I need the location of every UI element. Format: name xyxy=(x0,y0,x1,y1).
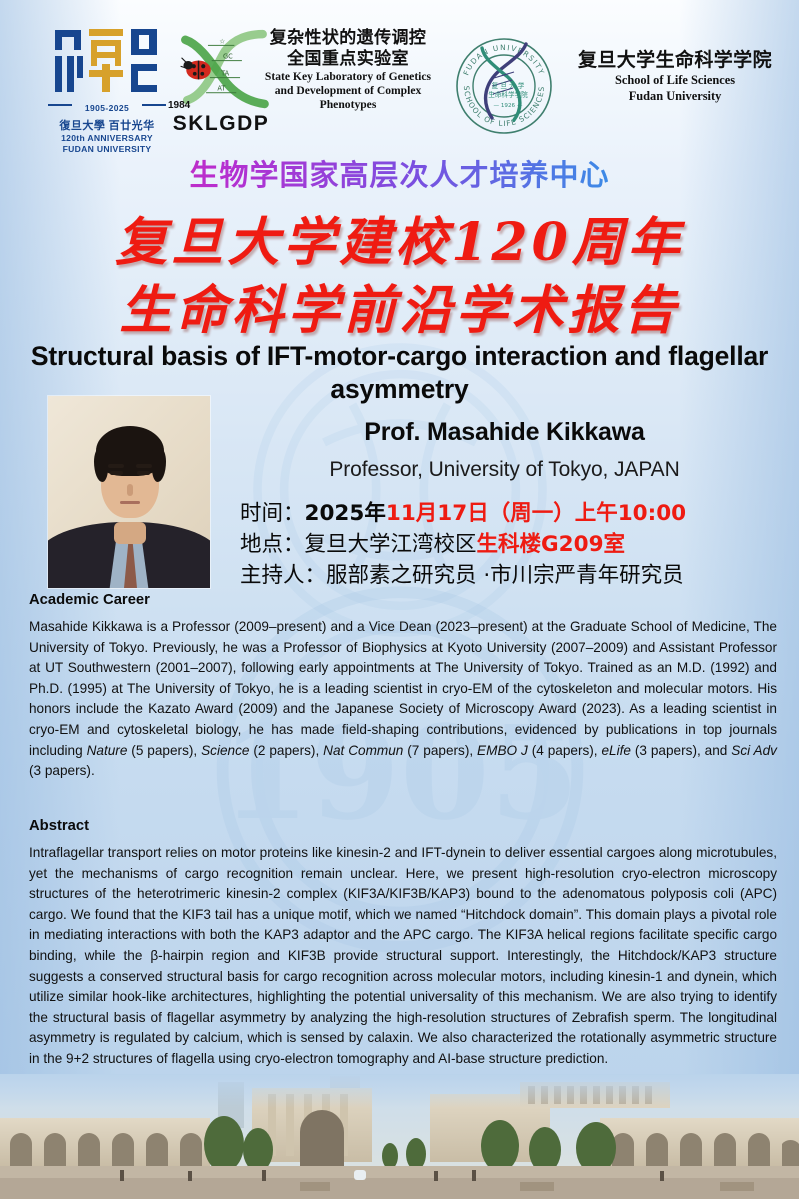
sklgdp-cn-line1: 复杂性状的遗传调控 xyxy=(250,28,446,49)
svg-text:AT: AT xyxy=(217,85,226,93)
event-venue-campus: 复旦大学江湾校区 xyxy=(305,532,477,557)
poster-header: 1905-2025 復旦大學 百廿光华 120th ANNIVERSARY FU… xyxy=(0,22,799,144)
sklgdp-cn-line2: 全国重点实验室 xyxy=(250,49,446,70)
school-of-life-sciences-seal-icon: FUDAN UNIVERSITY SCHOOL OF LIFE SCIENCES… xyxy=(452,26,556,142)
fudan-logo-cn-line: 復旦大學 百廿光华 xyxy=(44,117,170,133)
svg-text:FUDAN UNIVERSITY: FUDAN UNIVERSITY xyxy=(461,43,546,77)
svg-text:☆: ☆ xyxy=(219,38,225,46)
fudan-120-anniversary-logo: 1905-2025 復旦大學 百廿光华 120th ANNIVERSARY FU… xyxy=(44,26,170,148)
abstract-heading: Abstract xyxy=(29,818,777,834)
event-venue-room: 生科楼G209室 xyxy=(477,532,626,557)
event-time-year: 2025年 xyxy=(305,501,386,526)
sklgdp-en-line3: Phenotypes xyxy=(250,98,446,112)
speaker-portrait xyxy=(48,396,210,588)
fudan-logo-years: 1905-2025 xyxy=(85,103,129,113)
svg-text:生命科学学院: 生命科学学院 xyxy=(488,90,528,99)
event-time-label: 时间： xyxy=(240,501,305,526)
sklgdp-wordmark: SKLGDP xyxy=(168,112,274,136)
svg-text:— 1926 —: — 1926 — xyxy=(494,103,523,109)
fudan-120-glyph-mark xyxy=(51,26,163,96)
sls-cn-line: 复旦大学生命科学学院 xyxy=(560,48,790,72)
academic-career-body: Masahide Kikkawa is a Professor (2009–pr… xyxy=(29,617,777,782)
series-title-line1: 复旦大学建校120周年 xyxy=(0,200,799,275)
seminar-poster: 1905 xyxy=(0,0,799,1199)
sls-name-block: 复旦大学生命科学学院 School of Life Sciences Fudan… xyxy=(560,48,790,104)
campus-photo xyxy=(0,1074,799,1199)
event-venue-line: 地点：复旦大学江湾校区生科楼G209室 xyxy=(240,529,796,560)
event-time-date: 11月17日（周一）上午10:00 xyxy=(386,501,686,526)
svg-text:TA: TA xyxy=(220,70,230,78)
sklgdp-founding-year: 1984 xyxy=(168,100,190,111)
center-name-banner: 生物学国家高层次人才培养中心 xyxy=(0,152,799,194)
fudan-logo-divider: 1905-2025 xyxy=(48,98,166,116)
academic-career-section: Academic Career Masahide Kikkawa is a Pr… xyxy=(29,592,777,782)
sklgdp-name-block: 复杂性状的遗传调控 全国重点实验室 State Key Laboratory o… xyxy=(250,28,446,112)
academic-career-heading: Academic Career xyxy=(29,592,777,608)
event-host-line: 主持人：服部素之研究员 ·市川宗严青年研究员 xyxy=(240,560,796,591)
sklgdp-en-line2: and Development of Complex xyxy=(250,84,446,98)
svg-text:复 旦 大 学: 复 旦 大 学 xyxy=(492,81,525,90)
fudan-logo-en-line1: 120th ANNIVERSARY xyxy=(44,133,170,144)
abstract-section: Abstract Intraflagellar transport relies… xyxy=(29,818,777,1070)
event-time-line: 时间：2025年11月17日（周一）上午10:00 xyxy=(240,498,796,529)
event-host-names: 服部素之研究员 ·市川宗严青年研究员 xyxy=(326,563,684,588)
event-venue-label: 地点： xyxy=(240,532,305,557)
sklgdp-en-line1: State Key Laboratory of Genetics xyxy=(250,70,446,84)
event-details: 时间：2025年11月17日（周一）上午10:00 地点：复旦大学江湾校区生科楼… xyxy=(240,498,796,591)
sls-en-line1: School of Life Sciences xyxy=(560,72,790,88)
speaker-affiliation: Professor, University of Tokyo, JAPAN xyxy=(228,458,781,482)
abstract-body: Intraflagellar transport relies on motor… xyxy=(29,843,777,1070)
event-host-label: 主持人： xyxy=(240,563,326,588)
series-title-line2: 生命科学前沿学术报告 xyxy=(0,268,799,343)
sls-en-line2: Fudan University xyxy=(560,88,790,104)
speaker-name: Prof. Masahide Kikkawa xyxy=(228,418,781,447)
svg-text:GC: GC xyxy=(223,53,233,61)
